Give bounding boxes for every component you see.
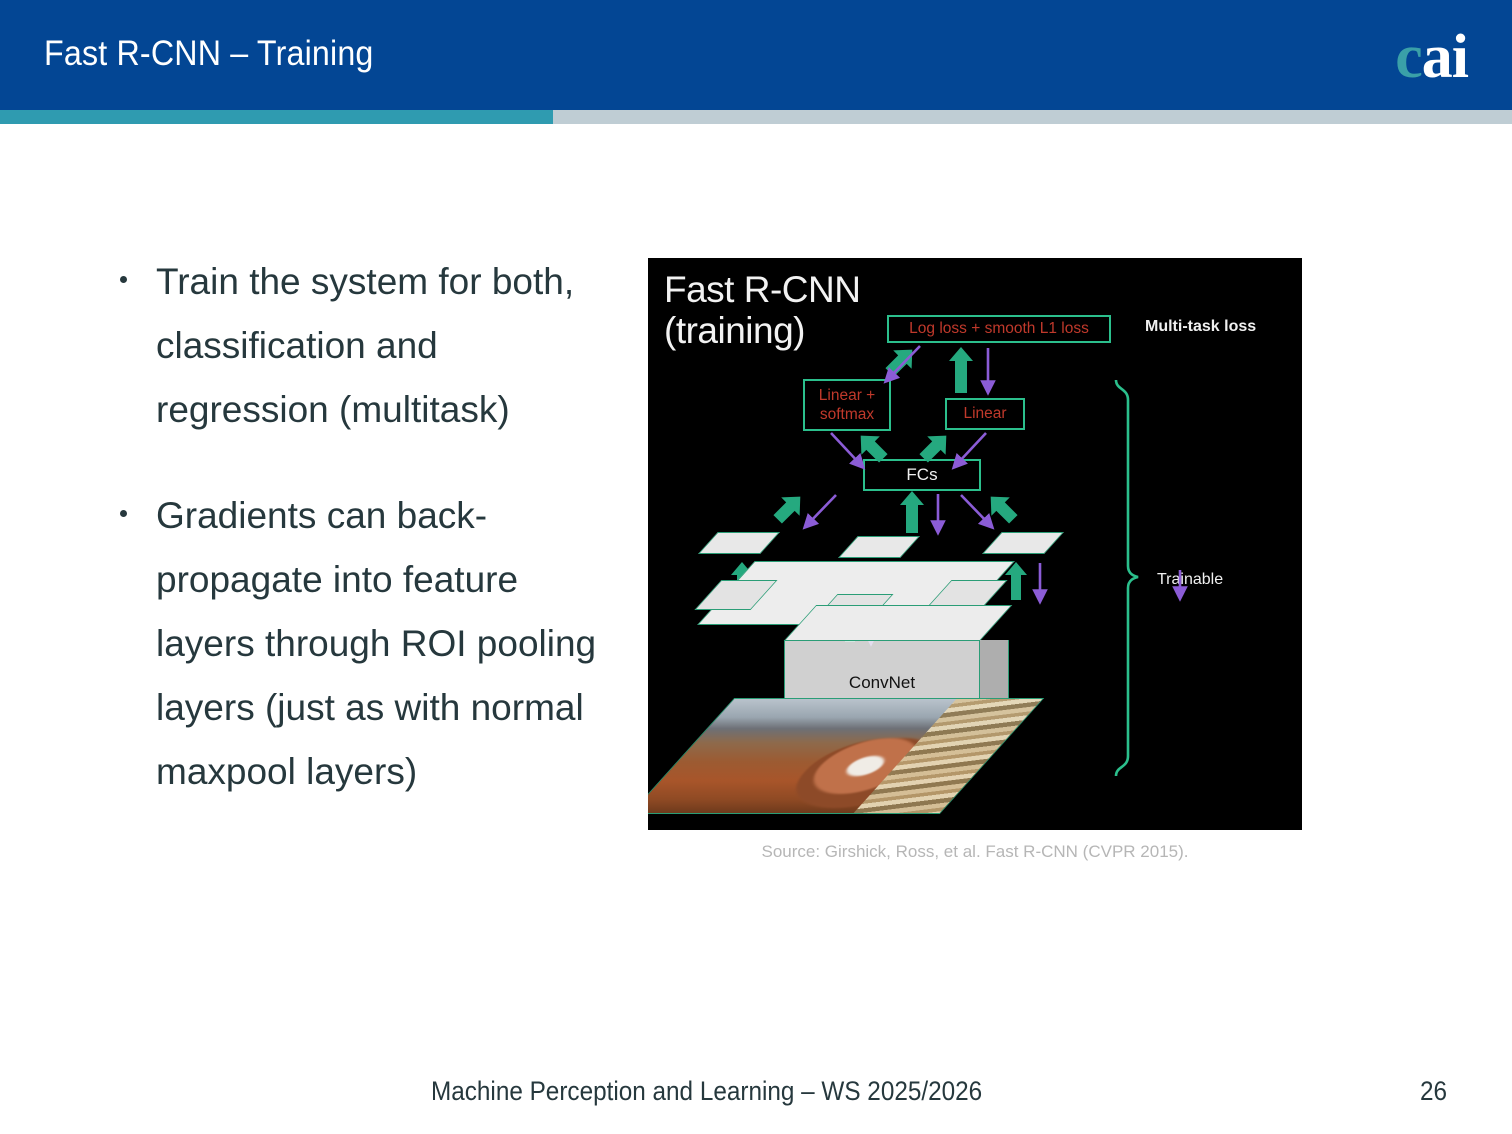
bullet-text: Train the system for both, classificatio…: [156, 261, 574, 430]
backward-arrow-purple-icon: [956, 492, 998, 534]
figure-source-caption: Source: Girshick, Ross, et al. Fast R-CN…: [648, 842, 1302, 862]
forward-arrow-green-icon: [918, 430, 952, 464]
diagram-title-line-1: Fast R-CNN: [664, 270, 860, 311]
roi-feature-plane: [698, 532, 780, 554]
list-item: Train the system for both, classificatio…: [108, 250, 608, 442]
linear-box-label: Linear: [963, 404, 1006, 423]
bullet-dot-icon: [120, 510, 127, 517]
accent-bar-teal: [0, 110, 553, 124]
forward-arrow-green-icon: [899, 490, 925, 534]
fcs-box-label: FCs: [906, 464, 937, 485]
forward-arrow-green-icon: [948, 346, 974, 394]
log-loss-box-label: Log loss + smooth L1 loss: [909, 319, 1089, 338]
linear-box: Linear: [945, 398, 1025, 430]
backward-arrow-purple-icon: [980, 346, 996, 396]
slide-header: Fast R-CNN – Training cai: [0, 0, 1512, 110]
diagram-title: Fast R-CNN (training): [664, 270, 860, 351]
logo-letter-c: c: [1395, 23, 1422, 91]
convnet-box-label: ConvNet: [784, 673, 980, 693]
trainable-brace-icon: [1114, 378, 1140, 778]
list-item: Gradients can back-propagate into featur…: [108, 484, 608, 804]
backward-arrow-purple-icon: [930, 492, 946, 536]
fast-rcnn-training-diagram: Fast R-CNN (training) Multi-task loss Tr…: [648, 258, 1302, 830]
backward-arrow-purple-icon: [1172, 568, 1188, 602]
slide: Fast R-CNN – Training cai Train the syst…: [0, 0, 1512, 1134]
bullet-dot-icon: [120, 276, 127, 283]
multi-task-loss-label: Multi-task loss: [1145, 318, 1256, 336]
bullet-list: Train the system for both, classificatio…: [108, 250, 608, 804]
roi-feature-plane: [838, 536, 920, 558]
roi-feature-plane: [982, 532, 1064, 554]
footer-course-label: Machine Perception and Learning – WS 202…: [431, 1076, 982, 1107]
trainable-label: Trainable: [1157, 571, 1223, 589]
footer-page-number: 26: [1420, 1076, 1447, 1107]
page-title: Fast R-CNN – Training: [44, 34, 374, 74]
input-image-photo: [648, 698, 1044, 814]
backward-arrow-purple-icon: [948, 430, 992, 474]
linear-softmax-label-2: softmax: [820, 405, 874, 424]
diagram-title-line-2: (training): [664, 311, 860, 352]
cai-logo: cai: [1395, 26, 1468, 88]
accent-bar-grey: [553, 110, 1512, 124]
logo-letters-ai: ai: [1422, 23, 1468, 91]
backward-arrow-purple-icon: [1032, 561, 1048, 605]
backward-arrow-purple-icon: [800, 492, 842, 534]
linear-softmax-label-1: Linear +: [819, 386, 875, 405]
linear-softmax-box: Linear + softmax: [803, 379, 891, 431]
bullet-text: Gradients can back-propagate into featur…: [156, 495, 596, 792]
backward-arrow-purple-icon: [880, 342, 926, 388]
convnet-box-top-face: [784, 605, 1012, 641]
figure-container: Fast R-CNN (training) Multi-task loss Tr…: [648, 258, 1302, 830]
backward-arrow-purple-icon: [826, 430, 870, 474]
log-loss-box: Log loss + smooth L1 loss: [887, 315, 1111, 343]
